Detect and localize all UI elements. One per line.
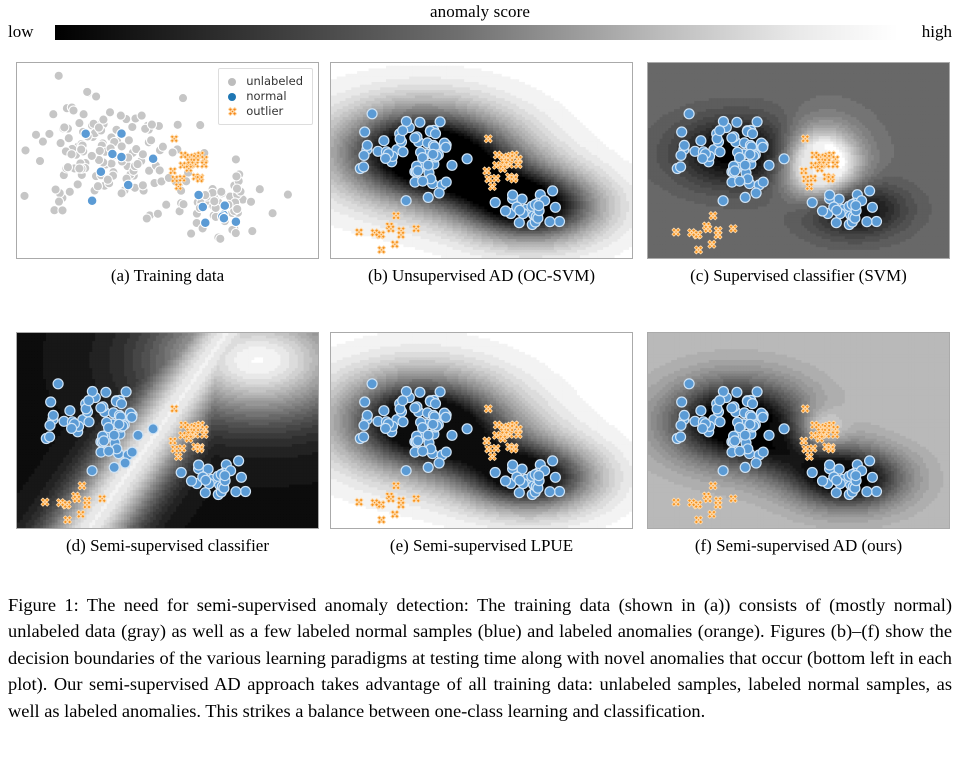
colorbar-title: anomaly score xyxy=(0,2,960,22)
panel-b xyxy=(330,62,633,259)
panel-caption-b: (b) Unsupervised AD (OC-SVM) xyxy=(310,266,653,286)
panel-e xyxy=(330,332,633,529)
colorbar: anomaly score low high xyxy=(0,0,960,52)
panel-caption-c: (c) Supervised classifier (SVM) xyxy=(627,266,960,286)
legend-item-label: unlabeled xyxy=(246,74,303,89)
colorbar-gradient xyxy=(55,25,898,40)
plot-legend: unlabelednormaloutlier xyxy=(218,68,313,125)
panel-a: unlabelednormaloutlier xyxy=(16,62,319,259)
panel-caption-f: (f) Semi-supervised AD (ours) xyxy=(627,536,960,556)
legend-item: unlabeled xyxy=(225,74,303,89)
panel-caption-d: (d) Semi-supervised classifier xyxy=(0,536,339,556)
legend-circle-icon xyxy=(225,78,239,86)
panel-caption-a: (a) Training data xyxy=(0,266,339,286)
colorbar-high-label: high xyxy=(922,22,952,42)
legend-item: outlier xyxy=(225,104,303,119)
panel-caption-e: (e) Semi-supervised LPUE xyxy=(310,536,653,556)
legend-x-icon xyxy=(225,106,239,117)
legend-circle-icon xyxy=(225,93,239,101)
panel-d xyxy=(16,332,319,529)
panel-c xyxy=(647,62,950,259)
legend-item: normal xyxy=(225,89,303,104)
figure-caption: Figure 1: The need for semi-supervised a… xyxy=(8,592,952,724)
colorbar-low-label: low xyxy=(8,22,34,42)
legend-item-label: outlier xyxy=(246,104,283,119)
legend-item-label: normal xyxy=(246,89,286,104)
panel-f xyxy=(647,332,950,529)
